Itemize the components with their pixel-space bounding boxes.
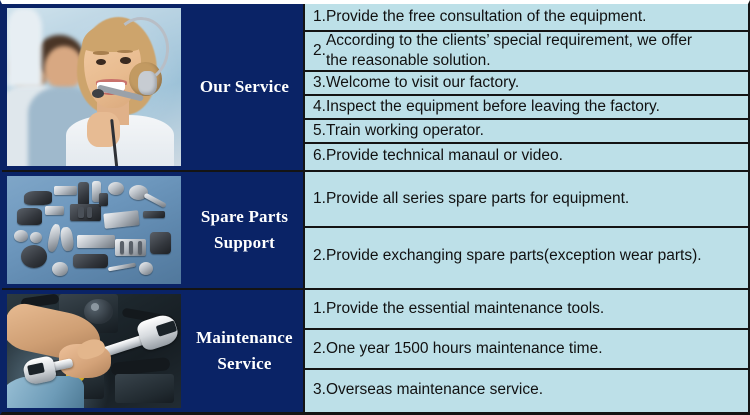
engine-part <box>30 232 42 243</box>
list-item-number: 2. <box>313 339 326 359</box>
list-item: 2.One year 1500 hours maintenance time. <box>305 330 748 370</box>
headset-earpiece-icon <box>138 71 157 95</box>
engine-part <box>73 254 108 268</box>
list-item-text: Provide the free consultation of the equ… <box>326 7 647 27</box>
colleague-shirt <box>7 8 42 87</box>
engine-part <box>120 241 124 254</box>
list-item: 2.Provide exchanging spare parts(excepti… <box>305 228 748 284</box>
list-item-text: Provide all series spare parts for equip… <box>326 189 629 209</box>
engine-part <box>77 235 115 248</box>
list-item: 1.Provide the free consultation of the e… <box>305 4 748 32</box>
engine-part <box>99 193 108 206</box>
engine-part <box>143 192 167 208</box>
engine-part <box>143 211 166 219</box>
list-item-text: Inspect the equipment before leaving the… <box>326 97 660 117</box>
section-spare-parts-support: Spare Parts Support 1.Provide all series… <box>2 170 748 288</box>
engine-part <box>24 191 52 205</box>
list-item-text: Welcome to visit our factory. <box>326 73 519 93</box>
engine-part <box>70 204 101 221</box>
engine-part <box>108 182 124 195</box>
list-item-number: 5. <box>313 121 326 141</box>
section-label-maintenance-service: Maintenance Service <box>186 290 305 412</box>
our-service-item-list: 1.Provide the free consultation of the e… <box>305 4 748 170</box>
mechanic-wrench-engine-photo <box>7 294 181 408</box>
section-label-spare-parts-support: Spare Parts Support <box>186 172 305 288</box>
list-item-number: 2. <box>313 41 326 61</box>
list-item-text: Provide the essential maintenance tools. <box>326 299 604 319</box>
list-item-text: Provide technical manaul or video. <box>326 146 563 166</box>
list-item: 5.Train working operator. <box>305 120 748 144</box>
engine-part <box>54 186 77 196</box>
list-item-number: 1. <box>313 189 326 209</box>
engine-part <box>150 232 171 254</box>
list-item: 1.Provide all series spare parts for equ… <box>305 172 748 228</box>
agent-eyebrow-left <box>93 51 109 54</box>
list-item-number: 2. <box>313 246 326 266</box>
maintenance-item-list: 1.Provide the essential maintenance tool… <box>305 290 748 412</box>
engine-part <box>78 182 88 206</box>
list-item-text: Overseas maintenance service. <box>326 380 543 400</box>
engine-part <box>17 208 41 224</box>
engine-cap <box>84 299 114 324</box>
list-item-text: One year 1500 hours maintenance time. <box>326 339 603 359</box>
list-item: 6.Provide technical manaul or video. <box>305 144 748 168</box>
spare-parts-photo-cell <box>2 172 186 288</box>
after-sales-service-table: Our Service 1.Provide the free consultat… <box>0 0 750 415</box>
spare-parts-item-list: 1.Provide all series spare parts for equ… <box>305 172 748 288</box>
engine-fan-part <box>21 245 47 268</box>
section-label-our-service: Our Service <box>186 4 305 170</box>
list-item-number: 6. <box>313 146 326 166</box>
engine-part <box>52 262 68 276</box>
engine-part <box>14 230 28 242</box>
list-item-number: 3. <box>313 73 326 93</box>
list-item: 3.Overseas maintenance service. <box>305 370 748 410</box>
call-center-agent-photo <box>7 8 181 166</box>
list-item: 2.According to the clients’ special requ… <box>305 32 748 72</box>
spare-engine-parts-photo <box>7 176 181 284</box>
engine-part <box>78 207 83 218</box>
list-item-number: 1. <box>313 7 326 27</box>
list-item-text: Train working operator. <box>326 121 484 141</box>
list-item: 1.Provide the essential maintenance tool… <box>305 290 748 330</box>
maintenance-photo-cell <box>2 290 186 412</box>
engine-part <box>59 226 74 251</box>
engine-part <box>138 241 142 254</box>
list-item-text: Provide exchanging spare parts(exception… <box>326 246 702 266</box>
section-maintenance-service: Maintenance Service 1.Provide the essent… <box>2 288 748 412</box>
list-item: 4.Inspect the equipment before leaving t… <box>305 96 748 120</box>
our-service-photo-cell <box>2 4 186 170</box>
section-our-service: Our Service 1.Provide the free consultat… <box>2 4 748 170</box>
list-item-number: 4. <box>313 97 326 117</box>
engine-part <box>108 262 136 271</box>
engine-part <box>104 210 140 229</box>
list-item-text: According to the clients’ special requir… <box>326 31 692 71</box>
list-item: 3.Welcome to visit our factory. <box>305 72 748 96</box>
engine-part <box>139 262 153 275</box>
engine-block <box>115 374 174 404</box>
list-item-number: 1. <box>313 299 326 319</box>
engine-part <box>129 241 133 254</box>
engine-part <box>87 207 92 218</box>
engine-part <box>45 206 64 215</box>
engine-part <box>46 223 62 253</box>
list-item-number: 3. <box>313 380 326 400</box>
engine-hose <box>111 357 171 376</box>
